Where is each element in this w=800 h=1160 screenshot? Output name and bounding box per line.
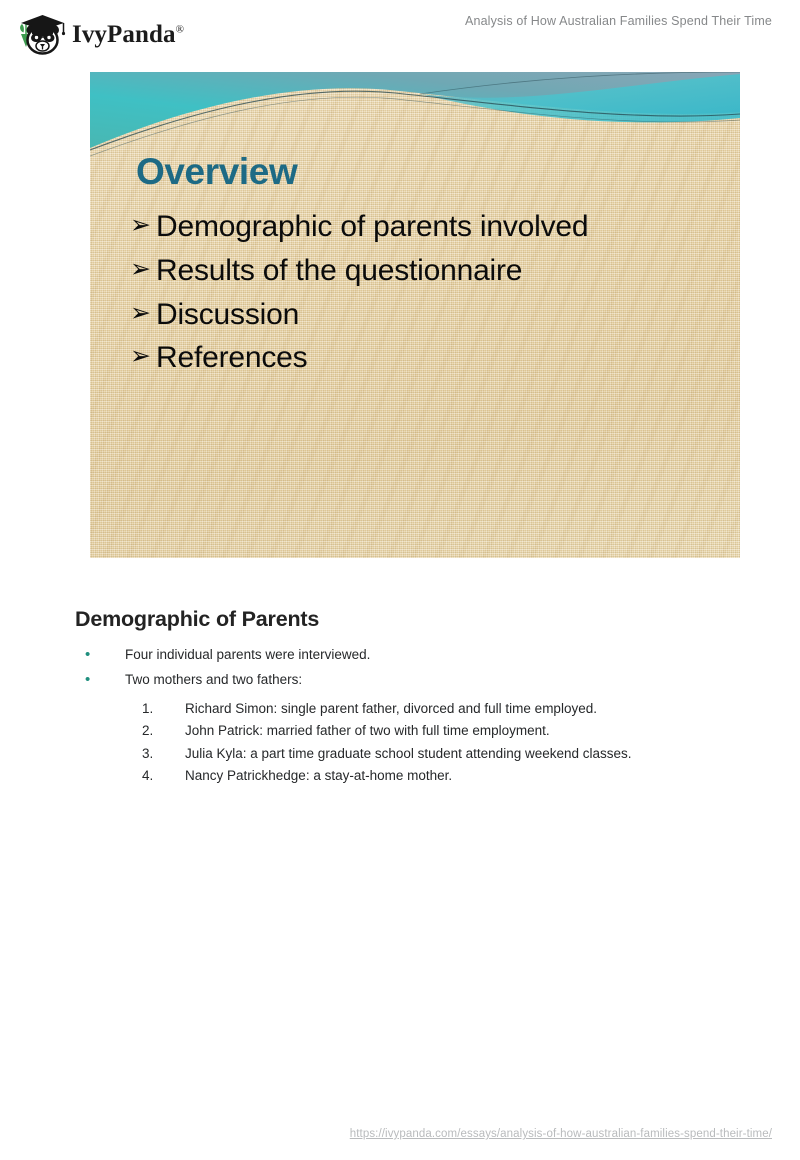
list-item: Two mothers and two fathers: (78, 670, 728, 691)
list-item-number: 2. (142, 720, 153, 741)
list-item-label: Julia Kyla: a part time graduate school … (185, 746, 632, 761)
list-item: 1. Richard Simon: single parent father, … (140, 698, 740, 719)
slide-bullet-label: References (156, 341, 646, 376)
list-item-number: 4. (142, 765, 153, 786)
list-item-label: John Patrick: married father of two with… (185, 723, 550, 738)
document-title: Analysis of How Australian Families Spen… (465, 14, 772, 28)
slide-bullet-list: ➢ Demographic of parents involved ➢ Resu… (130, 210, 710, 385)
slide-bullet-item: ➢ Discussion (130, 298, 710, 333)
page-header: IvyPanda® Analysis of How Australian Fam… (0, 0, 800, 62)
slide-bullet-label: Demographic of parents involved (156, 210, 646, 245)
content-bullet-list: Four individual parents were interviewed… (78, 645, 728, 695)
list-item-number: 1. (142, 698, 153, 719)
parents-numbered-list: 1. Richard Simon: single parent father, … (140, 698, 740, 787)
list-item-label: Nancy Patrickhedge: a stay-at-home mothe… (185, 768, 452, 783)
slide-bullet-item: ➢ Demographic of parents involved (130, 210, 710, 245)
slide-bullet-item: ➢ Results of the questionnaire (130, 254, 710, 289)
list-item: 2. John Patrick: married father of two w… (140, 720, 740, 741)
arrow-bullet-icon: ➢ (130, 210, 156, 241)
arrow-bullet-icon: ➢ (130, 341, 156, 372)
list-item-label: Richard Simon: single parent father, div… (185, 701, 597, 716)
slide-title: Overview (136, 153, 297, 190)
arrow-bullet-icon: ➢ (130, 254, 156, 285)
panda-graduate-logo-icon (14, 12, 66, 56)
presentation-slide-overview: Overview ➢ Demographic of parents involv… (90, 72, 740, 558)
section-heading: Demographic of Parents (75, 607, 319, 632)
slide-bullet-item: ➢ References (130, 341, 710, 376)
brand-name: IvyPanda® (72, 22, 184, 47)
arrow-bullet-icon: ➢ (130, 298, 156, 329)
brand-logo[interactable]: IvyPanda® (14, 12, 184, 56)
list-item: Four individual parents were interviewed… (78, 645, 728, 666)
list-item: 3. Julia Kyla: a part time graduate scho… (140, 743, 740, 764)
slide-bullet-label: Results of the questionnaire (156, 254, 646, 289)
page-footer: https://ivypanda.com/essays/analysis-of-… (0, 1124, 800, 1142)
list-item: 4. Nancy Patrickhedge: a stay-at-home mo… (140, 765, 740, 786)
slide-bullet-label: Discussion (156, 298, 646, 333)
registered-mark: ® (176, 23, 184, 35)
source-url-link[interactable]: https://ivypanda.com/essays/analysis-of-… (350, 1128, 772, 1140)
list-item-number: 3. (142, 743, 153, 764)
